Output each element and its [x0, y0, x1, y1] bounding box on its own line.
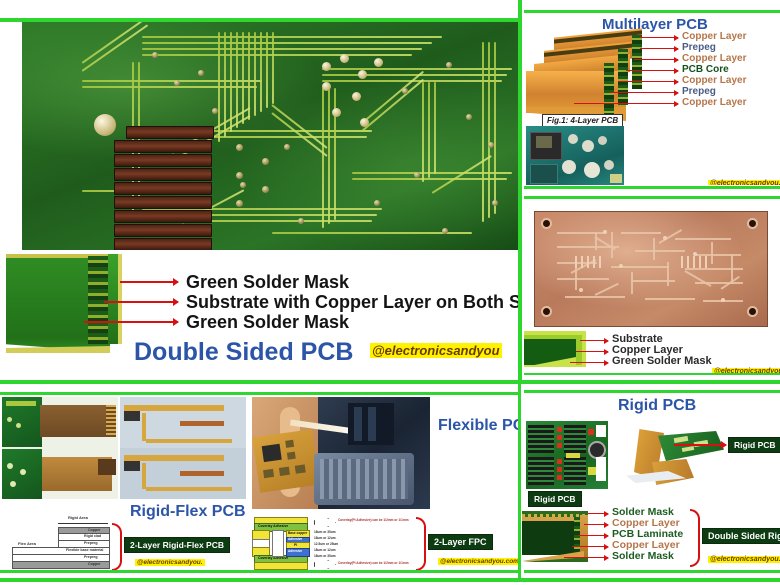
- flexible-stack-diagram: Coverlay Adhesive Coverlay Adhesive Base…: [252, 517, 412, 567]
- double-sided-title: Double Sided PCB: [134, 338, 353, 367]
- ml-callout-0: Copper Layer: [682, 32, 746, 42]
- divider-bottom: [0, 578, 780, 582]
- watermark-multilayer: @electronicsandyou.c: [708, 180, 780, 185]
- fpc-bottom-note: Coverlay(PI Adhesive) can be 1/2mm or 1/…: [338, 561, 409, 565]
- divider-mid-left: [0, 380, 780, 384]
- rigid-pcb-photo: [526, 421, 608, 489]
- panel-double-sided: Green Solder Mask Substrate with Copper …: [0, 250, 518, 380]
- rf-row-1: Rigid clad: [84, 534, 101, 538]
- panel-single-sided: Substrate Copper Layer Green Solder Mask…: [522, 199, 780, 373]
- rigid-flex-brace: [112, 523, 122, 570]
- arrow-ml-6: [574, 103, 678, 104]
- rigid-brace: [690, 509, 700, 567]
- rf-row-2: Prepreg: [84, 541, 98, 545]
- arrow-ss-1: [576, 351, 608, 352]
- watermark-double-sided: @electronicsandyou: [370, 343, 502, 358]
- ds-callout-2: Green Solder Mask: [186, 313, 349, 331]
- panel-double-sided-photo: [0, 22, 518, 250]
- fpc-thick-1: 18um or 12um: [314, 536, 336, 540]
- fpc-arrow-bottom: [314, 560, 336, 569]
- arrow-ds-1: [120, 281, 178, 283]
- multilayer-board-photo: [526, 126, 624, 185]
- fpc-thick-2: 12.5um or 25um: [314, 542, 338, 546]
- fpc-coverlay-top: Coverlay Adhesive: [258, 524, 288, 528]
- arrow-ml-5: [610, 92, 678, 93]
- watermark-rigid-flex: @electronicsandyou.: [135, 559, 205, 566]
- ml-callout-1: Prepeg: [682, 43, 716, 53]
- infographic-root: Green Solder Mask Substrate with Copper …: [0, 0, 780, 585]
- watermark-single-sided: @electronicsandyou.c: [712, 368, 780, 373]
- ds-right-edge: [118, 254, 122, 344]
- ds-callout-1: Substrate with Copper Layer on Both S: [186, 293, 518, 311]
- arrow-ds-3: [84, 321, 178, 323]
- ml-callout-3: PCB Core: [682, 65, 729, 75]
- flexible-title: Flexible PCB: [438, 417, 518, 435]
- rf-row-0: Copper: [88, 528, 101, 532]
- rg-callout-2: PCB Laminate: [612, 529, 683, 540]
- fpc-pi: PI: [294, 543, 297, 547]
- ml-callout-5: Prepeg: [682, 87, 716, 97]
- fpc-thick-4: 18um or 35um: [314, 554, 336, 558]
- arrow-ml-1: [640, 48, 678, 49]
- rigid-photo-badge: Rigid PCB: [528, 491, 582, 507]
- rigid-flex-photo-b: [120, 397, 246, 499]
- rigid-callout-badge: Rigid PCB: [728, 437, 780, 453]
- rigid-flex-stack-diagram: Rigid Area Flex Area Copper Rigid clad P…: [8, 523, 108, 567]
- divider-br-2: [524, 570, 780, 573]
- fpc-thick-3: 18um or 12um: [314, 548, 336, 552]
- rg-callout-1: Copper Layer: [612, 518, 680, 529]
- flexible-brace: [416, 517, 426, 570]
- fpc-adhesive-2: Adhesive: [288, 549, 302, 553]
- rigid-flex-strip-photo: [626, 425, 726, 487]
- rf-row-5: Copper: [88, 562, 101, 566]
- rf-row-4: Prepreg: [84, 555, 98, 559]
- arrow-ml-0: [640, 37, 678, 38]
- ml-side-strip-2: [618, 49, 628, 105]
- rg-callout-4: Solder Mask: [612, 551, 674, 562]
- ds-callout-0: Green Solder Mask: [186, 273, 349, 291]
- fpc-top-note: Coverlay(PI Adhesive) can be 1/2mm or 1/…: [338, 518, 409, 522]
- arrow-rg-2: [578, 535, 608, 536]
- panel-rigid: Rigid PCB Rigid PCB: [522, 393, 780, 570]
- arrow-ml-2: [634, 59, 678, 60]
- rg-callout-0: Solder Mask: [612, 507, 674, 518]
- panel-multilayer: Multilayer PCB Fig.1: 4-Layer PCB Copper…: [522, 13, 780, 185]
- divider-tr-2: [524, 186, 780, 189]
- arrow-rg-1: [584, 524, 608, 525]
- fpc-arrow-top: [314, 518, 336, 527]
- rigid-cross-section: [522, 511, 592, 569]
- arrow-ss-0: [580, 340, 608, 341]
- fpc-base-copper: Base copper: [288, 531, 307, 535]
- copper-board-photo: [534, 211, 768, 327]
- rg-callout-3: Copper Layer: [612, 540, 680, 551]
- arrow-ml-3: [626, 70, 678, 71]
- arrow-rg-4: [564, 557, 608, 558]
- rigid-stack-badge: Double Sided Rigid PCB: [702, 528, 780, 544]
- arrow-ml-4: [618, 81, 678, 82]
- ml-callout-4: Copper Layer: [682, 76, 746, 86]
- watermark-flexible: @electronicsandyou.com: [438, 558, 518, 565]
- arrow-rg-0: [588, 513, 608, 514]
- flexible-stack-badge: 2-Layer FPC: [428, 534, 493, 550]
- ds-slab-bottom-edge: [6, 346, 110, 353]
- watermark-rigid: @electronicsandyou.c: [708, 556, 780, 563]
- arrow-ss-2: [570, 362, 608, 363]
- rf-row-3: Flexible base material: [66, 548, 103, 552]
- rigid-title: Rigid PCB: [618, 397, 696, 415]
- rf-label-rigid-area: Rigid Area: [68, 515, 88, 520]
- arrow-rg-3: [572, 546, 608, 547]
- rf-label-flex-area: Flex Area: [18, 541, 36, 546]
- ml-side-strip-3: [604, 63, 614, 115]
- ds-side-trace-strip: [88, 256, 108, 344]
- divider-bl-2: [0, 570, 518, 573]
- panel-rigid-flex: Rigid-Flex PCB Rigid Area Flex Area Copp…: [0, 395, 248, 570]
- ml-callout-6: Copper Layer: [682, 98, 746, 108]
- fpc-thick-0: 18um or 35um: [314, 530, 336, 534]
- flexible-pcb-photo: [252, 397, 430, 509]
- panel-flexible: Flexible PCB Coverlay Adhesive Coverlay …: [250, 395, 518, 570]
- arrow-rigid-callout: [674, 444, 726, 446]
- rigid-flex-stack-badge: 2-Layer Rigid-Flex PCB: [124, 537, 230, 553]
- ml-callout-2: Copper Layer: [682, 54, 746, 64]
- rigid-flex-title: Rigid-Flex PCB: [130, 503, 246, 521]
- arrow-ds-2: [104, 301, 178, 303]
- green-pcb-photo: [22, 22, 518, 250]
- fpc-adhesive-1: Adhesive: [288, 537, 302, 541]
- rigid-flex-photo-a: [2, 397, 118, 499]
- divider-vertical-bottom: [518, 384, 521, 580]
- ss-callout-2: Green Solder Mask: [612, 356, 712, 367]
